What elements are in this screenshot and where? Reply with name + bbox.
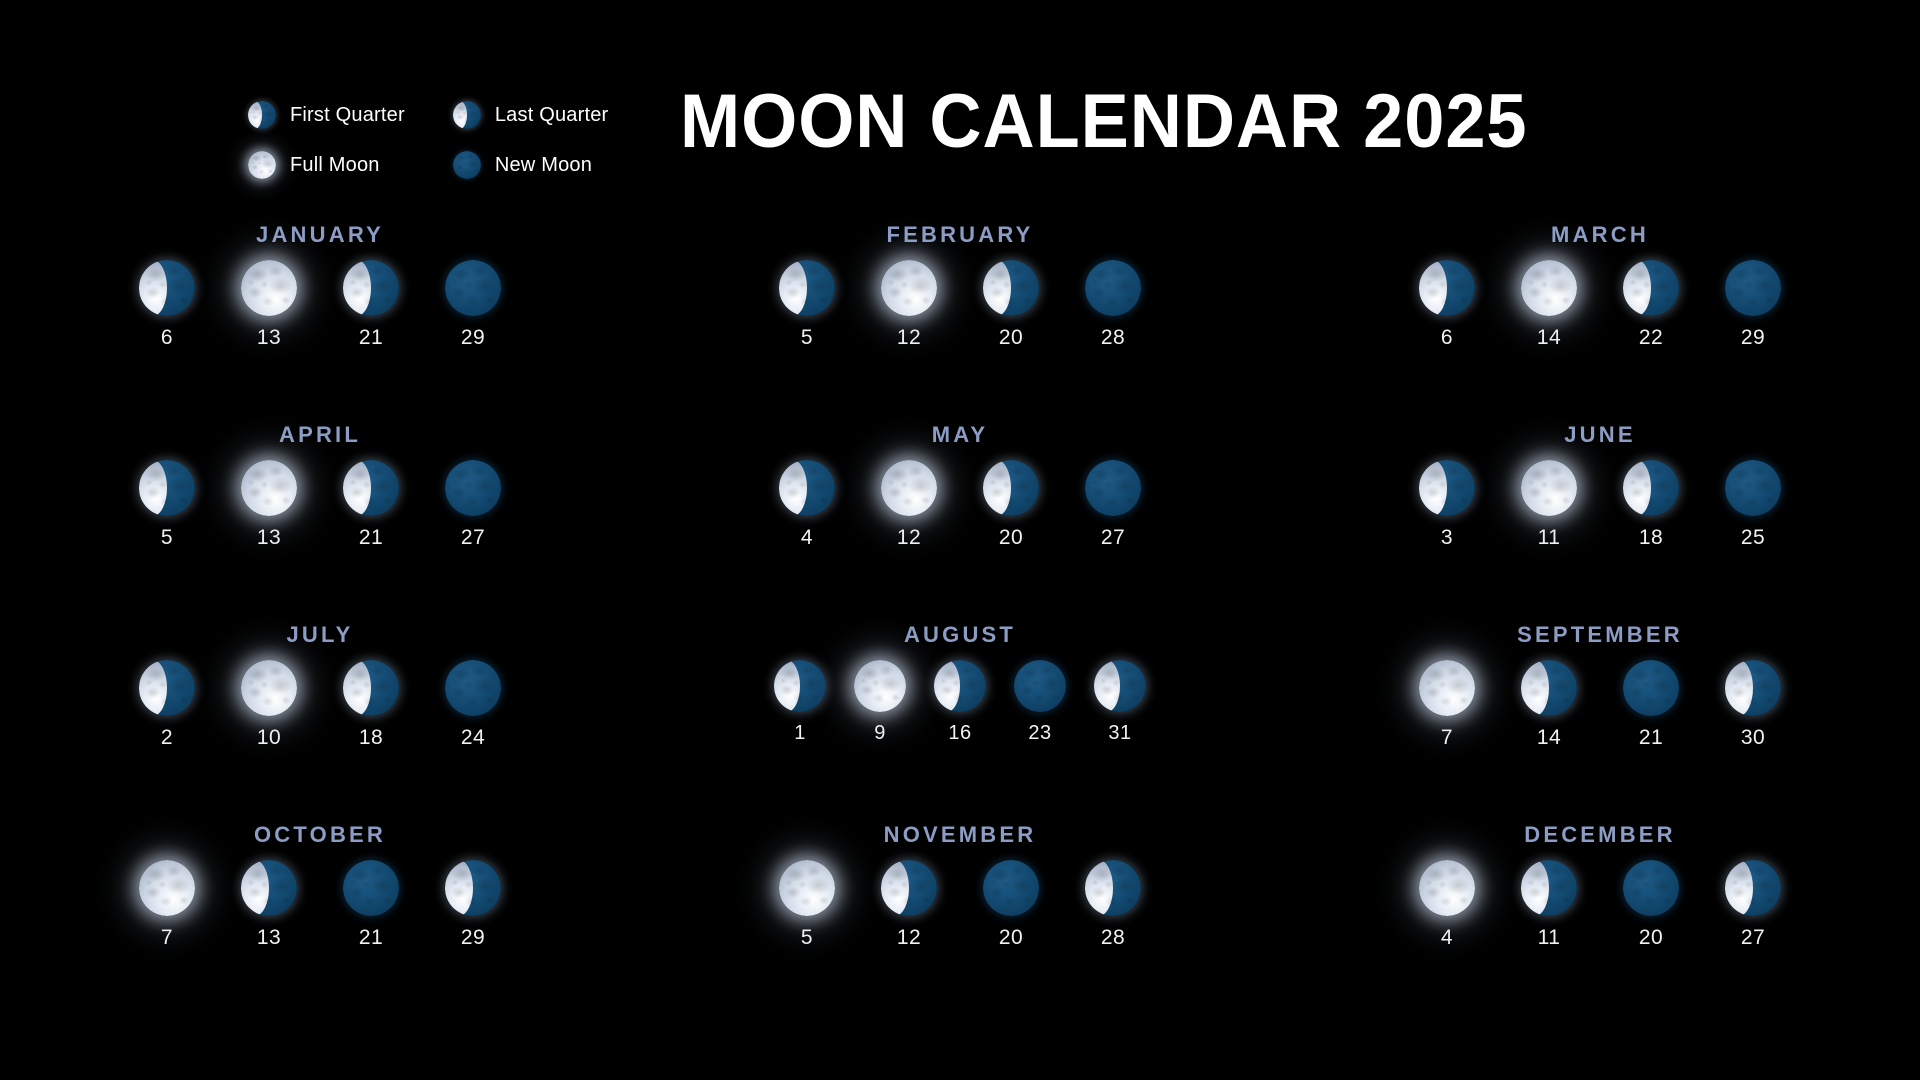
month-name-label: MARCH xyxy=(1551,222,1649,248)
moon-phase-day: 14 xyxy=(1537,326,1561,350)
moon-full-moon-icon xyxy=(881,460,937,516)
moon-new-icon xyxy=(453,151,481,179)
moon-phase-day: 29 xyxy=(1741,326,1765,350)
moon-new-moon-icon xyxy=(1725,260,1781,316)
moon-phase-entry[interactable]: 30 xyxy=(1712,660,1794,750)
moon-first-quarter-icon xyxy=(1725,860,1781,916)
moon-phase-entry[interactable]: 12 xyxy=(868,260,950,350)
moon-new-moon-icon xyxy=(1725,460,1781,516)
month-phase-row: 7132129 xyxy=(126,860,514,950)
moon-phase-day: 1 xyxy=(794,722,806,745)
moon-phase-entry[interactable]: 28 xyxy=(1072,260,1154,350)
legend-item-new-moon: New Moon xyxy=(453,140,609,190)
moon-last-quarter-icon xyxy=(983,260,1039,316)
moon-phase-entry[interactable]: 21 xyxy=(330,260,412,350)
moon-new-moon-icon xyxy=(1085,460,1141,516)
moon-new-moon-icon xyxy=(1085,260,1141,316)
moon-last-quarter-icon xyxy=(241,860,297,916)
moon-phase-entry[interactable]: 7 xyxy=(1406,660,1488,750)
moon-phase-day: 21 xyxy=(359,526,383,550)
moon-phase-entry[interactable]: 9 xyxy=(844,660,916,745)
moon-phase-entry[interactable]: 21 xyxy=(330,860,412,950)
moon-phase-day: 13 xyxy=(257,326,281,350)
legend-item-last-quarter: Last Quarter xyxy=(453,90,609,140)
moon-phase-entry[interactable]: 6 xyxy=(126,260,208,350)
moon-first-quarter-icon xyxy=(139,660,195,716)
legend-item-label: Full Moon xyxy=(290,154,380,177)
moon-phase-day: 31 xyxy=(1108,722,1131,745)
moon-first-quarter-icon xyxy=(779,260,835,316)
moon-phase-entry[interactable]: 18 xyxy=(1610,460,1692,550)
moon-first-quarter-icon xyxy=(139,260,195,316)
moon-last-quarter-icon xyxy=(881,860,937,916)
moon-full-moon-icon xyxy=(139,860,195,916)
month-block-february: FEBRUARY5122028 xyxy=(640,222,1280,422)
moon-phase-entry[interactable]: 18 xyxy=(330,660,412,750)
month-name-label: JULY xyxy=(286,622,353,648)
moon-phase-entry[interactable]: 11 xyxy=(1508,460,1590,550)
moon-phase-entry[interactable]: 3 xyxy=(1406,460,1488,550)
month-name-label: FEBRUARY xyxy=(886,222,1033,248)
moon-first-quarter-icon xyxy=(1725,660,1781,716)
moon-phase-entry[interactable]: 7 xyxy=(126,860,208,950)
month-phase-row: 4122027 xyxy=(766,460,1154,550)
month-phase-row: 4112027 xyxy=(1406,860,1794,950)
moon-phase-day: 5 xyxy=(801,926,813,950)
moon-full-moon-icon xyxy=(241,660,297,716)
month-name-label: OCTOBER xyxy=(254,822,386,848)
moon-phase-entry[interactable]: 20 xyxy=(970,260,1052,350)
moon-phase-day: 4 xyxy=(1441,926,1453,950)
moon-phase-day: 25 xyxy=(1741,526,1765,550)
moon-phase-entry[interactable]: 13 xyxy=(228,260,310,350)
moon-phase-day: 20 xyxy=(1639,926,1663,950)
moon-phase-day: 6 xyxy=(161,326,173,350)
moon-phase-entry[interactable]: 5 xyxy=(766,860,848,950)
page-title: MOON CALENDAR 2025 xyxy=(680,78,1528,165)
moon-full-icon xyxy=(248,151,276,179)
moon-phase-day: 5 xyxy=(801,326,813,350)
legend-item-label: Last Quarter xyxy=(495,104,609,127)
moon-last-quarter-icon xyxy=(983,460,1039,516)
moon-phase-entry[interactable]: 20 xyxy=(1610,860,1692,950)
moon-phase-day: 23 xyxy=(1028,722,1051,745)
moon-phase-entry[interactable]: 14 xyxy=(1508,660,1590,750)
moon-new-moon-icon xyxy=(445,660,501,716)
moon-phase-entry[interactable]: 2 xyxy=(126,660,208,750)
moon-first-quarter-icon xyxy=(774,660,826,712)
moon-phase-entry[interactable]: 27 xyxy=(432,460,514,550)
moon-phase-entry[interactable]: 25 xyxy=(1712,460,1794,550)
moon-full-moon-icon xyxy=(881,260,937,316)
month-phase-row: 5132127 xyxy=(126,460,514,550)
moon-phase-entry[interactable]: 29 xyxy=(1712,260,1794,350)
moon-phase-day: 28 xyxy=(1101,926,1125,950)
month-block-may: MAY4122027 xyxy=(640,422,1280,622)
month-block-october: OCTOBER7132129 xyxy=(0,822,640,1022)
moon-phase-day: 6 xyxy=(1441,326,1453,350)
month-phase-row: 6142229 xyxy=(1406,260,1794,350)
moon-phase-entry[interactable]: 21 xyxy=(330,460,412,550)
month-name-label: APRIL xyxy=(279,422,361,448)
moon-first-quarter-icon xyxy=(779,460,835,516)
moon-last-quarter-icon xyxy=(1521,660,1577,716)
moon-last-quarter-icon xyxy=(453,101,481,129)
moon-full-moon-icon xyxy=(241,460,297,516)
moon-phase-entry[interactable]: 31 xyxy=(1084,660,1156,745)
moon-full-moon-icon xyxy=(1419,860,1475,916)
moon-phase-day: 18 xyxy=(1639,526,1663,550)
month-block-december: DECEMBER4112027 xyxy=(1280,822,1920,1022)
month-block-january: JANUARY6132129 xyxy=(0,222,640,422)
moon-first-quarter-icon xyxy=(1419,460,1475,516)
moon-last-quarter-icon xyxy=(1521,860,1577,916)
moon-new-moon-icon xyxy=(1014,660,1066,712)
moon-phase-day: 20 xyxy=(999,526,1023,550)
month-phase-row: 7142130 xyxy=(1406,660,1794,750)
moon-phase-entry[interactable]: 4 xyxy=(1406,860,1488,950)
moon-phase-day: 11 xyxy=(1538,526,1561,550)
moon-last-quarter-icon xyxy=(1623,260,1679,316)
moon-phase-entry[interactable]: 13 xyxy=(228,860,310,950)
moon-phase-day: 20 xyxy=(999,326,1023,350)
moon-phase-day: 21 xyxy=(359,326,383,350)
moon-phase-entry[interactable]: 10 xyxy=(228,660,310,750)
moon-full-moon-icon xyxy=(854,660,906,712)
moon-phase-day: 29 xyxy=(461,926,485,950)
month-name-label: JUNE xyxy=(1564,422,1636,448)
moon-phase-entry[interactable]: 13 xyxy=(228,460,310,550)
moon-phase-day: 27 xyxy=(1741,926,1765,950)
moon-phase-day: 27 xyxy=(1101,526,1125,550)
moon-phase-day: 2 xyxy=(161,726,173,750)
moon-phase-day: 10 xyxy=(257,726,281,750)
moon-phase-entry[interactable]: 27 xyxy=(1072,460,1154,550)
month-name-label: AUGUST xyxy=(904,622,1016,648)
month-block-march: MARCH6142229 xyxy=(1280,222,1920,422)
moon-phase-entry[interactable]: 20 xyxy=(970,460,1052,550)
month-name-label: SEPTEMBER xyxy=(1517,622,1683,648)
month-phase-row: 3111825 xyxy=(1406,460,1794,550)
moon-new-moon-icon xyxy=(1623,860,1679,916)
moon-phase-day: 14 xyxy=(1537,726,1561,750)
moon-phase-entry[interactable]: 20 xyxy=(970,860,1052,950)
moon-first-quarter-icon xyxy=(248,101,276,129)
moon-first-quarter-icon xyxy=(1094,660,1146,712)
moon-phase-day: 9 xyxy=(874,722,886,745)
moon-new-moon-icon xyxy=(1623,660,1679,716)
moon-phase-day: 4 xyxy=(801,526,813,550)
month-phase-row: 6132129 xyxy=(126,260,514,350)
moon-phase-day: 18 xyxy=(359,726,383,750)
moon-phase-day: 12 xyxy=(897,326,921,350)
moon-new-moon-icon xyxy=(445,260,501,316)
moon-phase-entry[interactable]: 5 xyxy=(766,260,848,350)
moon-phase-day: 21 xyxy=(359,926,383,950)
moon-phase-day: 3 xyxy=(1441,526,1453,550)
moon-last-quarter-icon xyxy=(343,260,399,316)
legend-item-label: First Quarter xyxy=(290,104,405,127)
moon-phase-day: 5 xyxy=(161,526,173,550)
moon-phase-day: 7 xyxy=(161,926,173,950)
moon-full-moon-icon xyxy=(1419,660,1475,716)
moon-phase-day: 12 xyxy=(897,926,921,950)
moon-new-moon-icon xyxy=(445,460,501,516)
moon-last-quarter-icon xyxy=(343,660,399,716)
month-phase-row: 5122028 xyxy=(766,860,1154,950)
moon-phase-entry[interactable]: 12 xyxy=(868,860,950,950)
legend-item-full-moon: Full Moon xyxy=(248,140,405,190)
moon-phase-entry[interactable]: 14 xyxy=(1508,260,1590,350)
moon-phase-entry[interactable]: 1 xyxy=(764,660,836,745)
moon-last-quarter-icon xyxy=(934,660,986,712)
legend-item-label: New Moon xyxy=(495,154,592,177)
month-phase-row: 5122028 xyxy=(766,260,1154,350)
moon-phase-day: 24 xyxy=(461,726,485,750)
moon-phase-entry[interactable]: 5 xyxy=(126,460,208,550)
moon-phase-entry[interactable]: 28 xyxy=(1072,860,1154,950)
legend-item-first-quarter: First Quarter xyxy=(248,90,405,140)
moon-phase-day: 29 xyxy=(461,326,485,350)
month-name-label: NOVEMBER xyxy=(884,822,1037,848)
month-block-april: APRIL5132127 xyxy=(0,422,640,622)
moon-last-quarter-icon xyxy=(1623,460,1679,516)
moon-phase-day: 16 xyxy=(948,722,971,745)
month-block-july: JULY2101824 xyxy=(0,622,640,822)
moon-last-quarter-icon xyxy=(343,460,399,516)
moon-phase-entry[interactable]: 11 xyxy=(1508,860,1590,950)
moon-phase-day: 30 xyxy=(1741,726,1765,750)
moon-phase-day: 22 xyxy=(1639,326,1663,350)
moon-phase-entry[interactable]: 24 xyxy=(432,660,514,750)
header: First QuarterLast QuarterFull MoonNew Mo… xyxy=(0,0,1920,200)
month-block-august: AUGUST19162331 xyxy=(640,622,1280,822)
moon-phase-entry[interactable]: 4 xyxy=(766,460,848,550)
moon-full-moon-icon xyxy=(241,260,297,316)
moon-phase-day: 27 xyxy=(461,526,485,550)
moon-phase-day: 28 xyxy=(1101,326,1125,350)
moon-phase-entry[interactable]: 21 xyxy=(1610,660,1692,750)
month-block-june: JUNE3111825 xyxy=(1280,422,1920,622)
moon-first-quarter-icon xyxy=(445,860,501,916)
moon-new-moon-icon xyxy=(983,860,1039,916)
moon-phase-day: 20 xyxy=(999,926,1023,950)
moon-phase-day: 13 xyxy=(257,926,281,950)
moon-phase-day: 7 xyxy=(1441,726,1453,750)
moon-full-moon-icon xyxy=(1521,460,1577,516)
month-block-november: NOVEMBER5122028 xyxy=(640,822,1280,1022)
moon-phase-entry[interactable]: 6 xyxy=(1406,260,1488,350)
month-phase-row: 19162331 xyxy=(764,660,1156,745)
moon-calendar-grid: JANUARY6132129FEBRUARY5122028MARCH614222… xyxy=(0,222,1920,1022)
moon-phase-day: 11 xyxy=(1538,926,1561,950)
month-block-september: SEPTEMBER7142130 xyxy=(1280,622,1920,822)
moon-phase-day: 21 xyxy=(1639,726,1663,750)
moon-phase-entry[interactable]: 22 xyxy=(1610,260,1692,350)
moon-phase-entry[interactable]: 29 xyxy=(432,860,514,950)
month-name-label: MAY xyxy=(932,422,988,448)
moon-phase-day: 13 xyxy=(257,526,281,550)
moon-full-moon-icon xyxy=(779,860,835,916)
month-phase-row: 2101824 xyxy=(126,660,514,750)
month-name-label: DECEMBER xyxy=(1524,822,1676,848)
moon-first-quarter-icon xyxy=(1419,260,1475,316)
moon-first-quarter-icon xyxy=(1085,860,1141,916)
moon-new-moon-icon xyxy=(343,860,399,916)
legend: First QuarterLast QuarterFull MoonNew Mo… xyxy=(248,90,608,190)
moon-full-moon-icon xyxy=(1521,260,1577,316)
moon-phase-entry[interactable]: 23 xyxy=(1004,660,1076,745)
moon-phase-entry[interactable]: 27 xyxy=(1712,860,1794,950)
moon-phase-entry[interactable]: 29 xyxy=(432,260,514,350)
moon-phase-entry[interactable]: 12 xyxy=(868,460,950,550)
month-name-label: JANUARY xyxy=(256,222,384,248)
moon-phase-entry[interactable]: 16 xyxy=(924,660,996,745)
moon-phase-day: 12 xyxy=(897,526,921,550)
moon-first-quarter-icon xyxy=(139,460,195,516)
